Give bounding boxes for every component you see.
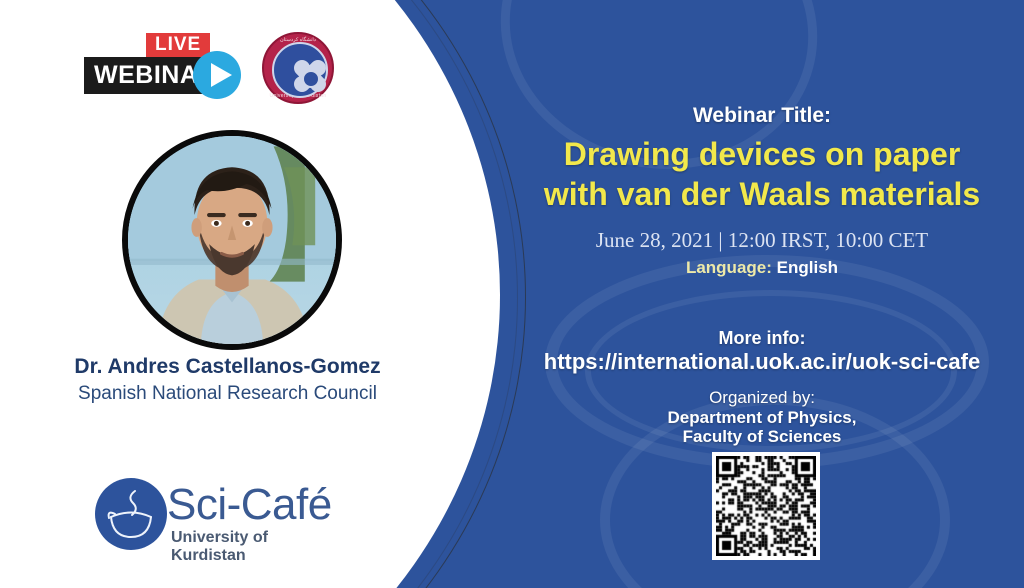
organizer-line-1: Department of Physics, (500, 408, 1024, 428)
coffee-cup-icon (105, 487, 157, 541)
sci-cafe-title: Sci-Café (167, 481, 332, 529)
speaker-portrait-image (128, 136, 336, 344)
speaker-photo (122, 130, 342, 350)
organizer-line-2: Faculty of Sciences (500, 427, 1024, 447)
speaker-affiliation: Spanish National Research Council (0, 383, 455, 405)
qr-code-image (716, 456, 816, 556)
language-value: English (777, 258, 838, 277)
seal-core (302, 70, 320, 88)
university-of-kurdistan-seal-icon: دانشگاه کردستان University of Kurdistan (262, 32, 334, 104)
webinar-title-line-1: Drawing devices on paper (500, 134, 1024, 174)
webinar-title-line-2: with van der Waals materials (500, 174, 1024, 214)
more-info-url[interactable]: https://international.uok.ac.ir/uok-sci-… (500, 349, 1024, 375)
webinar-datetime: June 28, 2021 | 12:00 IRST, 10:00 CET (500, 228, 1024, 253)
sci-cafe-subtitle: University of Kurdistan (171, 529, 345, 565)
organizer-label: Organized by: (500, 388, 1024, 408)
live-tag: LIVE (146, 33, 210, 58)
webinar-title: Drawing devices on paper with van der Wa… (500, 134, 1024, 214)
seal-inner-emblem (272, 42, 328, 98)
language-label: Language: (686, 258, 772, 277)
more-info-label: More info: (500, 328, 1024, 349)
sci-cafe-logo: Sci-Café University of Kurdistan (95, 478, 345, 556)
speaker-name: Dr. Andres Castellanos-Gomez (0, 355, 455, 379)
webinar-poster: LIVE WEBINAR دانشگاه کردستان University … (0, 0, 1024, 588)
webinar-language: Language: English (500, 258, 1024, 278)
qr-code[interactable] (712, 452, 820, 560)
play-triangle-icon (211, 63, 232, 87)
webinar-title-label: Webinar Title: (500, 104, 1024, 128)
live-webinar-badge: LIVE WEBINAR (84, 33, 254, 93)
